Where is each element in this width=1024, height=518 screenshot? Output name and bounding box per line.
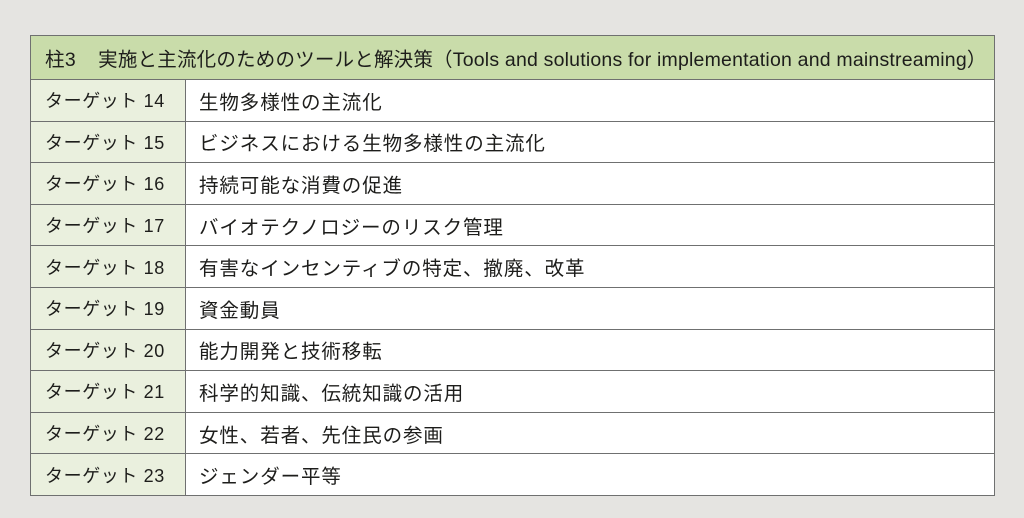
pillar-number-label: 柱3 [45,43,76,72]
target-label-text: ターゲット 17 [31,205,185,246]
target-label-text: ターゲット 21 [31,371,185,412]
document-page: 柱3 実施と主流化のためのツールと解決策（Tools and solutions… [0,0,1024,518]
table-body: ターゲット 14 生物多様性の主流化 ターゲット 15 ビジネスにおける生物多様… [31,80,995,496]
target-label-cell: ターゲット 16 [31,163,186,205]
target-label-cell: ターゲット 14 [31,80,186,122]
target-label-cell: ターゲット 21 [31,371,186,413]
target-label-text: ターゲット 18 [31,246,185,287]
target-description-cell: 科学的知識、伝統知識の活用 [186,371,995,413]
pillar-title-label: 実施と主流化のためのツールと解決策（Tools and solutions fo… [98,43,986,72]
target-description-cell: ビジネスにおける生物多様性の主流化 [186,121,995,163]
target-label-text: ターゲット 15 [31,122,185,163]
table-header-row: 柱3 実施と主流化のためのツールと解決策（Tools and solutions… [31,36,995,80]
target-description-text: 資金動員 [186,288,994,329]
target-description-cell: 生物多様性の主流化 [186,80,995,122]
target-description-text: 女性、若者、先住民の参画 [186,413,994,454]
target-label-cell: ターゲット 23 [31,454,186,496]
target-label-cell: ターゲット 22 [31,412,186,454]
table-header: 柱3 実施と主流化のためのツールと解決策（Tools and solutions… [31,36,995,80]
target-description-cell: 能力開発と技術移転 [186,329,995,371]
target-label-text: ターゲット 14 [31,80,185,121]
target-description-text: 科学的知識、伝統知識の活用 [186,371,994,412]
target-description-text: ビジネスにおける生物多様性の主流化 [186,122,994,163]
table-row: ターゲット 20 能力開発と技術移転 [31,329,995,371]
target-description-cell: 資金動員 [186,287,995,329]
target-label-text: ターゲット 20 [31,330,185,371]
targets-table-container: 柱3 実施と主流化のためのツールと解決策（Tools and solutions… [30,35,994,496]
target-label-text: ターゲット 19 [31,288,185,329]
target-label-text: ターゲット 22 [31,413,185,454]
targets-table: 柱3 実施と主流化のためのツールと解決策（Tools and solutions… [30,35,995,496]
table-row: ターゲット 22 女性、若者、先住民の参画 [31,412,995,454]
table-row: ターゲット 14 生物多様性の主流化 [31,80,995,122]
target-label-text: ターゲット 23 [31,454,185,495]
target-description-text: 持続可能な消費の促進 [186,163,994,204]
target-description-text: ジェンダー平等 [186,454,994,495]
target-label-cell: ターゲット 17 [31,204,186,246]
target-description-cell: バイオテクノロジーのリスク管理 [186,204,995,246]
table-row: ターゲット 16 持続可能な消費の促進 [31,163,995,205]
target-label-cell: ターゲット 15 [31,121,186,163]
target-description-cell: 有害なインセンティブの特定、撤廃、改革 [186,246,995,288]
target-description-text: バイオテクノロジーのリスク管理 [186,205,994,246]
target-description-text: 能力開発と技術移転 [186,330,994,371]
pillar-header-inner: 柱3 実施と主流化のためのツールと解決策（Tools and solutions… [31,36,994,79]
pillar-header-cell: 柱3 実施と主流化のためのツールと解決策（Tools and solutions… [31,36,995,80]
target-label-cell: ターゲット 18 [31,246,186,288]
table-row: ターゲット 19 資金動員 [31,287,995,329]
target-description-text: 有害なインセンティブの特定、撤廃、改革 [186,246,994,287]
table-row: ターゲット 23 ジェンダー平等 [31,454,995,496]
table-row: ターゲット 15 ビジネスにおける生物多様性の主流化 [31,121,995,163]
target-label-text: ターゲット 16 [31,163,185,204]
table-row: ターゲット 17 バイオテクノロジーのリスク管理 [31,204,995,246]
table-row: ターゲット 18 有害なインセンティブの特定、撤廃、改革 [31,246,995,288]
target-description-text: 生物多様性の主流化 [186,80,994,121]
target-description-cell: 女性、若者、先住民の参画 [186,412,995,454]
target-label-cell: ターゲット 19 [31,287,186,329]
target-label-cell: ターゲット 20 [31,329,186,371]
table-row: ターゲット 21 科学的知識、伝統知識の活用 [31,371,995,413]
target-description-cell: ジェンダー平等 [186,454,995,496]
target-description-cell: 持続可能な消費の促進 [186,163,995,205]
